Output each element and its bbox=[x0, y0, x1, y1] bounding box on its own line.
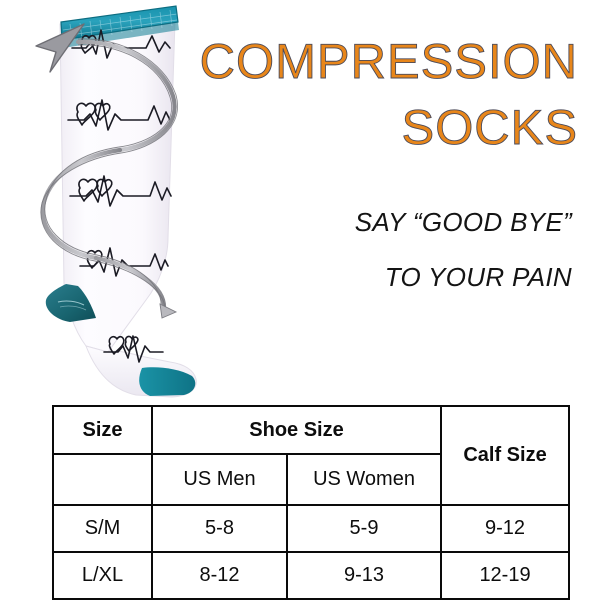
cell-us-women: 5-9 bbox=[287, 505, 441, 552]
cell-size: L/XL bbox=[53, 552, 152, 599]
tagline-line-1: SAY “GOOD BYE” bbox=[355, 209, 572, 235]
cell-us-men: 8-12 bbox=[152, 552, 287, 599]
table-row: L/XL 8-12 9-13 12-19 bbox=[53, 552, 569, 599]
size-chart-table: Size Shoe Size Calf Size US Men US Women… bbox=[52, 405, 570, 600]
product-infographic: COMPRESSION SOCKS SAY “GOOD BYE” TO YOUR… bbox=[0, 0, 600, 600]
page-title-line-1: COMPRESSION bbox=[200, 38, 578, 87]
ribbon-tail bbox=[160, 304, 176, 318]
table-row: S/M 5-8 5-9 9-12 bbox=[53, 505, 569, 552]
tagline-line-2: TO YOUR PAIN bbox=[385, 264, 572, 290]
page-title-line-2: SOCKS bbox=[402, 104, 578, 153]
size-chart: Size Shoe Size Calf Size US Men US Women… bbox=[52, 405, 568, 595]
compression-sock-image bbox=[0, 0, 220, 405]
header-us-men: US Men bbox=[152, 454, 287, 505]
cell-calf: 9-12 bbox=[441, 505, 569, 552]
header-size-blank bbox=[53, 454, 152, 505]
header-us-women: US Women bbox=[287, 454, 441, 505]
cell-us-women: 9-13 bbox=[287, 552, 441, 599]
cell-us-men: 5-8 bbox=[152, 505, 287, 552]
table-header-row-primary: Size Shoe Size Calf Size bbox=[53, 406, 569, 454]
header-shoe-size: Shoe Size bbox=[152, 406, 441, 454]
cell-size: S/M bbox=[53, 505, 152, 552]
cell-calf: 12-19 bbox=[441, 552, 569, 599]
header-calf-size: Calf Size bbox=[441, 406, 569, 505]
header-size: Size bbox=[53, 406, 152, 454]
